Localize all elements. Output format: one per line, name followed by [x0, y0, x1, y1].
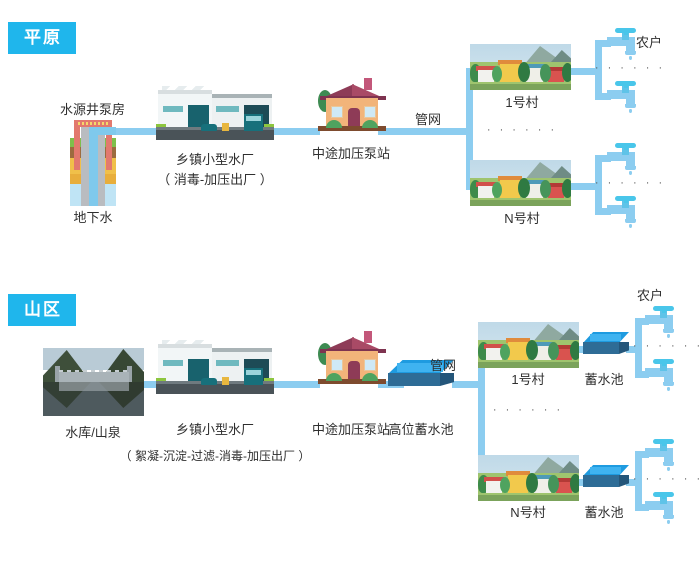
- faucet-icon-4-m: [643, 492, 681, 522]
- water-treatment-plant-icon: [156, 86, 274, 140]
- village-icon-1: [470, 44, 571, 90]
- faucet-icon-1-m: [643, 306, 681, 336]
- tank-n-label: 蓄水池: [584, 505, 623, 522]
- high-tank-label: 高位蓄水池: [388, 422, 453, 439]
- village-icon-n-m: [478, 455, 579, 501]
- section-badge-plain: 平原: [8, 22, 76, 54]
- village-1-label: 1号村: [505, 95, 538, 112]
- network-label: 管网: [415, 112, 441, 129]
- water-well-icon: [70, 118, 116, 206]
- tank-1-label: 蓄水池: [584, 372, 623, 389]
- village-icon-n: [470, 160, 571, 206]
- plant-label: 乡镇小型水厂: [176, 152, 254, 169]
- pump-station-house-icon: [316, 76, 388, 132]
- plant-label-m: 乡镇小型水厂: [176, 422, 254, 439]
- household-dots-2-m: · · · · · ·: [633, 473, 699, 485]
- plant-sublabel-m: （ 絮凝-沉淀-过滤-消毒-加压出厂 ）: [120, 449, 311, 465]
- household-label-m: 农户: [637, 288, 663, 305]
- village-n-label: N号村: [504, 211, 539, 228]
- household-label: 农户: [636, 35, 662, 52]
- pump-station-label: 中途加压泵站: [312, 146, 390, 163]
- pipe-plant-to-pump: [272, 128, 320, 135]
- faucet-icon-3: [605, 143, 643, 173]
- pump-station-house-icon-m: [316, 329, 388, 385]
- storage-tank-icon-n: [583, 465, 629, 491]
- village-1-label-m: 1号村: [511, 372, 544, 389]
- reservoir-photo-icon: [43, 348, 144, 416]
- well-label-top: 水源井泵房: [60, 102, 125, 119]
- plant-sublabel: （ 消毒-加压出厂 ）: [157, 172, 273, 189]
- household-dots-1: · · · · · ·: [595, 62, 665, 74]
- household-dots-2: · · · · · ·: [595, 177, 665, 189]
- storage-tank-icon-1: [583, 332, 629, 358]
- section-badge-mountain: 山区: [8, 294, 76, 326]
- pipe-pump-to-network: [378, 128, 470, 135]
- faucet-icon-3-m: [643, 439, 681, 469]
- water-treatment-plant-icon-m: [156, 340, 274, 394]
- faucet-icon-2: [605, 81, 643, 111]
- faucet-icon-4: [605, 196, 643, 226]
- pump-station-label-m: 中途加压泵站: [312, 422, 390, 439]
- faucet-icon-2-m: [643, 359, 681, 389]
- pipe-plant-to-pump-m: [272, 381, 320, 388]
- section-plain: 平原 水源井泵房 地下水 乡镇小型水厂 （ 消毒-加压出厂 ） 中途加压泵: [0, 0, 699, 286]
- village-n-label-m: N号村: [510, 505, 545, 522]
- household-dots-1-m: · · · · · ·: [633, 340, 699, 352]
- network-label-m: 管网: [430, 358, 456, 375]
- village-series-dots-m: · · · · · ·: [493, 404, 563, 416]
- village-icon-1-m: [478, 322, 579, 368]
- village-series-dots: · · · · · ·: [487, 124, 557, 136]
- source-label: 水库/山泉: [65, 425, 121, 442]
- section-mountain: 山区 水库/山泉 乡镇小型水厂 （ 絮凝-沉淀-过滤-消毒-加压出厂 ） 中途加: [0, 286, 699, 572]
- well-label-bottom: 地下水: [73, 210, 112, 227]
